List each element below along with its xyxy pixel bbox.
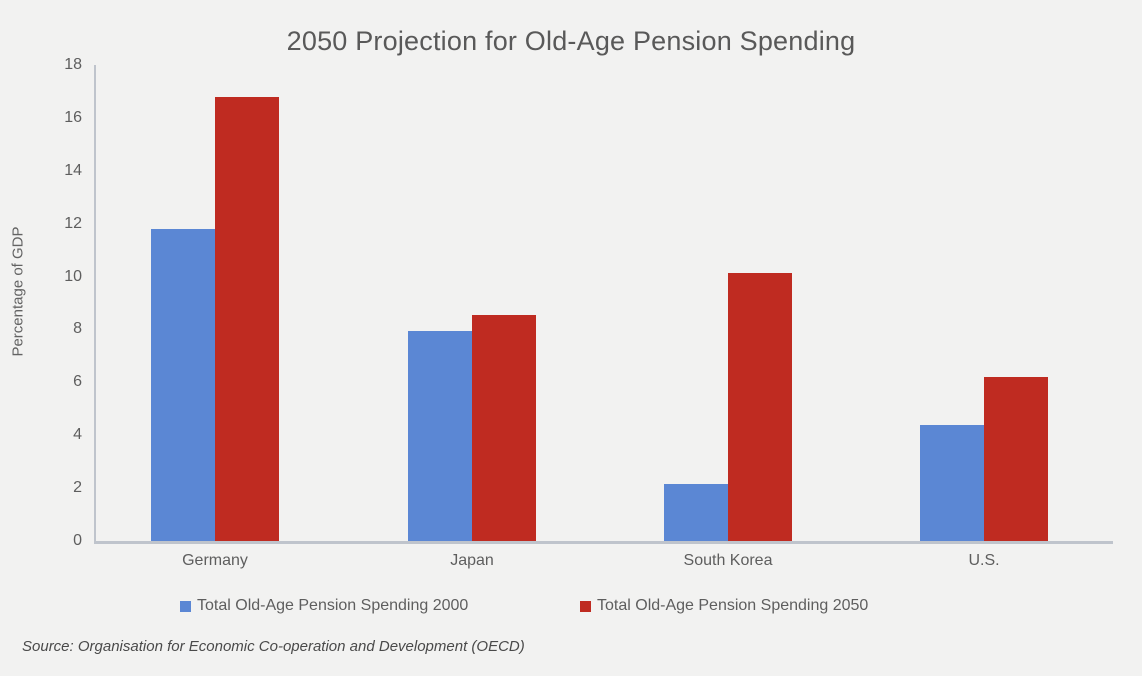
bar-south-korea-2050: [728, 273, 792, 541]
y-tick-label: 0: [42, 532, 82, 550]
y-axis-title: Percentage of GDP: [10, 152, 27, 432]
y-axis-tick-labels: 181614121086420: [34, 0, 82, 676]
legend-item-2000[interactable]: Total Old-Age Pension Spending 2000: [180, 594, 468, 618]
legend-swatch-icon: [180, 601, 191, 612]
y-tick-label: 12: [42, 215, 82, 233]
chart-title: 2050 Projection for Old-Age Pension Spen…: [0, 26, 1142, 57]
bars-layer: [96, 65, 1113, 541]
x-tick-label: Japan: [450, 552, 494, 570]
x-tick-label: Germany: [182, 552, 248, 570]
bar-u-s--2000: [920, 425, 984, 541]
bar-germany-2000: [151, 229, 215, 541]
y-tick-label: 18: [42, 56, 82, 74]
y-tick-label: 2: [42, 479, 82, 497]
bar-chart: 2050 Projection for Old-Age Pension Spen…: [0, 0, 1142, 676]
y-tick-label: 10: [42, 268, 82, 286]
y-tick-label: 4: [42, 426, 82, 444]
legend-label: Total Old-Age Pension Spending 2000: [197, 597, 468, 615]
legend-item-2050[interactable]: Total Old-Age Pension Spending 2050: [580, 594, 868, 618]
legend-label: Total Old-Age Pension Spending 2050: [597, 597, 868, 615]
y-tick-label: 14: [42, 162, 82, 180]
bar-u-s--2050: [984, 377, 1048, 541]
y-tick-label: 6: [42, 373, 82, 391]
source-note: Source: Organisation for Economic Co-ope…: [22, 638, 525, 655]
chart-legend: Total Old-Age Pension Spending 2000Total…: [0, 594, 1142, 618]
bar-germany-2050: [215, 97, 279, 541]
bar-south-korea-2000: [664, 484, 728, 541]
x-axis-line: [94, 541, 1113, 544]
legend-swatch-icon: [580, 601, 591, 612]
x-tick-label: U.S.: [968, 552, 999, 570]
y-tick-label: 16: [42, 109, 82, 127]
bar-japan-2050: [472, 315, 536, 541]
x-tick-label: South Korea: [684, 552, 773, 570]
bar-japan-2000: [408, 331, 472, 541]
y-tick-label: 8: [42, 320, 82, 338]
